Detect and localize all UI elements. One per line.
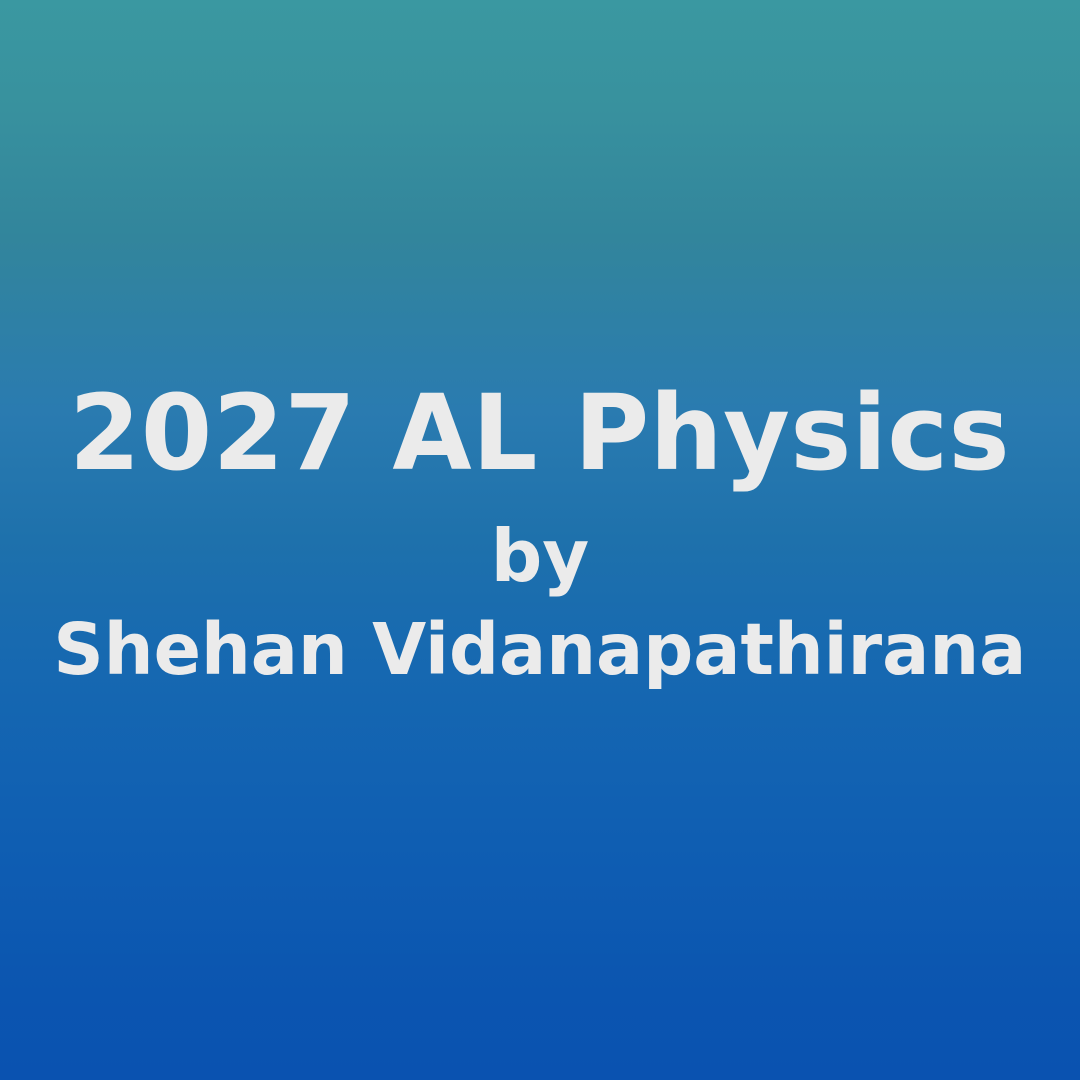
- course-title-card: 2027 AL Physics by Shehan Vidanapathiran…: [0, 0, 1080, 1080]
- page-title: 2027 AL Physics: [70, 381, 1011, 485]
- byline-label: by: [491, 520, 589, 592]
- title-text-stack: 2027 AL Physics by Shehan Vidanapathiran…: [0, 0, 1080, 1080]
- author-name: Shehan Vidanapathirana: [54, 614, 1027, 685]
